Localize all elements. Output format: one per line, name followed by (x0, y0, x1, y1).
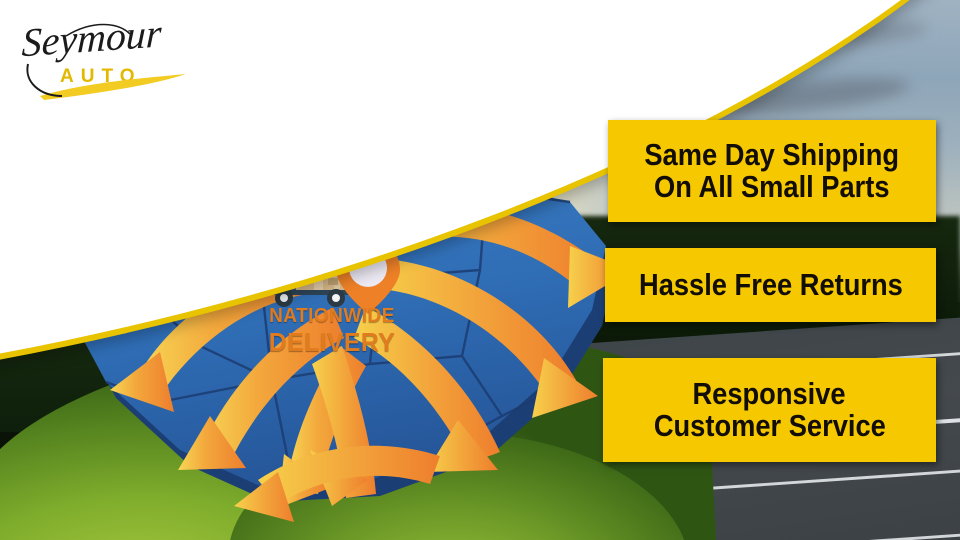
callout-line: Same Day Shipping (645, 139, 900, 171)
callout-hassle-free-returns[interactable]: Hassle Free Returns (605, 248, 936, 322)
logo-wordmark: Seymour (21, 10, 163, 65)
callout-line: Hassle Free Returns (639, 269, 903, 301)
seymour-auto-logo: Seymour AUTO (22, 12, 222, 104)
callout-line: On All Small Parts (654, 171, 889, 203)
nationwide-delivery-label: NATIONWIDE DELIVERY (252, 306, 412, 355)
package-label (328, 278, 338, 285)
callout-line: Customer Service (654, 410, 886, 442)
logo-script-flourish (27, 64, 62, 96)
callout-responsive-customer-service[interactable]: Responsive Customer Service (603, 358, 936, 462)
nationwide-line-2: DELIVERY (256, 329, 408, 355)
nationwide-line-1: NATIONWIDE (256, 306, 408, 326)
promotional-banner: NATIONWIDE DELIVERY Seymour AUTO Same Da… (0, 0, 960, 540)
callout-line: Responsive (693, 378, 846, 410)
callout-same-day-shipping[interactable]: Same Day Shipping On All Small Parts (608, 120, 936, 222)
